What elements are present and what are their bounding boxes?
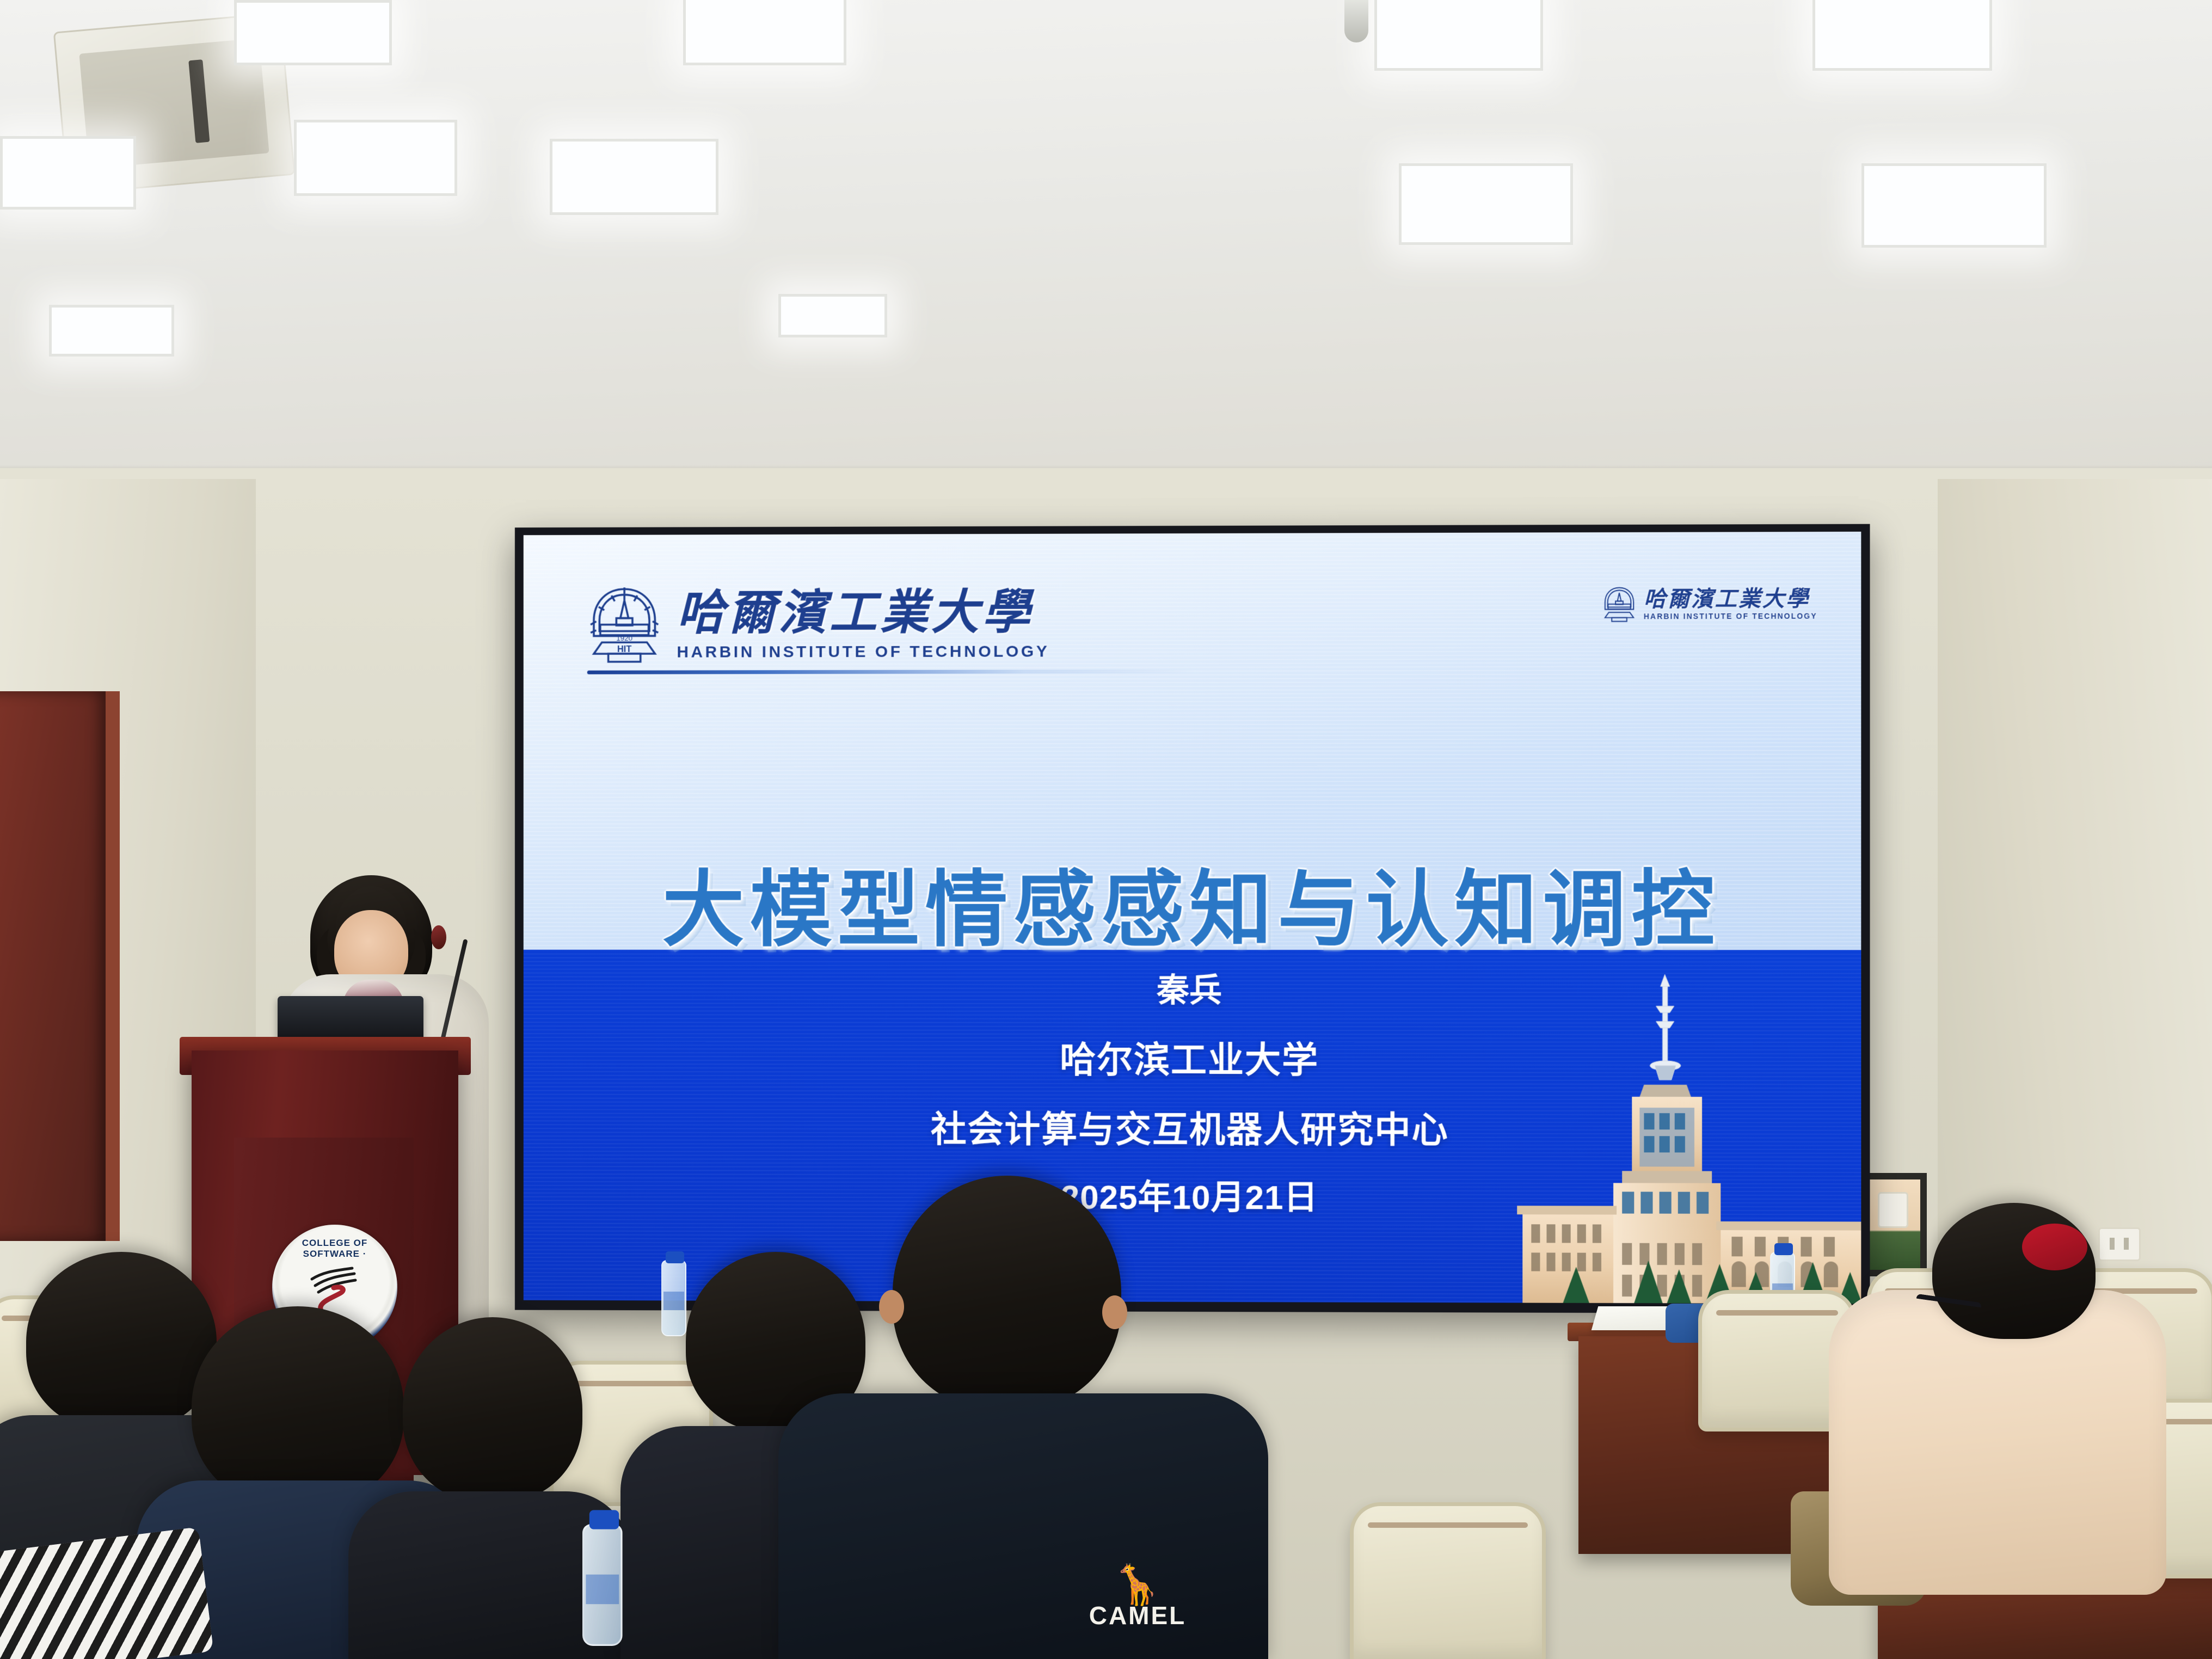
hit-main-building-illustration — [1470, 954, 1861, 1304]
ceiling-light-panel — [683, 0, 846, 65]
hit-logo-primary: 1920 HIT 哈爾濱工業大學 HARBIN INSTITUTE OF TEC… — [584, 582, 1049, 668]
ceiling-light-panel — [294, 120, 457, 196]
ceiling-light-panel — [550, 139, 718, 215]
audience-head — [192, 1306, 404, 1508]
water-bottle — [582, 1524, 623, 1646]
ceiling-light-panel — [1399, 163, 1573, 245]
hit-logo-english-small: HARBIN INSTITUTE OF TECHNOLOGY — [1644, 613, 1817, 621]
camel-logo-icon: 🦒 — [1056, 1568, 1219, 1603]
hit-logo-secondary: 哈爾濱工業大學 HARBIN INSTITUTE OF TECHNOLOGY — [1600, 584, 1817, 624]
audience-head — [403, 1317, 582, 1502]
hit-crest-icon-small — [1600, 585, 1638, 624]
ceiling-light-panel — [234, 0, 392, 65]
camel-brand-text: CAMEL — [1089, 1601, 1187, 1630]
svg-text:1920: 1920 — [616, 634, 632, 642]
seat[interactable] — [1350, 1502, 1546, 1659]
hit-logo-english: HARBIN INSTITUTE OF TECHNOLOGY — [677, 643, 1049, 660]
power-socket-icon — [2098, 1227, 2141, 1261]
ceiling-light-panel — [49, 305, 174, 357]
ceiling-light-panel — [1374, 0, 1543, 71]
hit-logo-chinese: 哈爾濱工業大學 — [677, 589, 1049, 638]
student-head — [1932, 1203, 2096, 1339]
water-bottle — [661, 1260, 686, 1336]
microphone-icon — [431, 925, 446, 949]
hit-crest-icon: 1920 HIT — [584, 582, 665, 668]
ceiling-light-panel — [1861, 163, 2047, 248]
ceiling-light-panel — [1812, 0, 1992, 71]
ear — [1102, 1295, 1127, 1329]
hair-scrunchie — [2022, 1224, 2087, 1270]
ceiling-light-panel — [0, 136, 136, 210]
ceiling-light-panel — [778, 294, 887, 337]
lecture-hall-photo: 1920 HIT 哈爾濱工業大學 HARBIN INSTITUTE OF TEC… — [0, 0, 2212, 1659]
led-display-screen[interactable]: 1920 HIT 哈爾濱工業大學 HARBIN INSTITUTE OF TEC… — [515, 524, 1870, 1314]
slide-title: 大模型情感感知与认知调控 — [524, 842, 1861, 962]
hit-logo-chinese-small: 哈爾濱工業大學 — [1644, 588, 1817, 610]
patterned-scarf — [0, 1527, 213, 1659]
presentation-slide: 1920 HIT 哈爾濱工業大學 HARBIN INSTITUTE OF TEC… — [524, 532, 1861, 1304]
presenter-laptop[interactable] — [278, 996, 423, 1039]
light-switch-icon[interactable] — [1878, 1192, 1908, 1228]
camel-brand-label: 🦒 CAMEL — [1056, 1568, 1219, 1628]
audience-head — [26, 1252, 217, 1431]
side-door[interactable] — [0, 691, 120, 1241]
ceiling-sensor-icon — [1344, 0, 1368, 42]
ear — [879, 1290, 904, 1324]
svg-text:HIT: HIT — [617, 644, 631, 654]
audience-head-front — [893, 1176, 1121, 1410]
